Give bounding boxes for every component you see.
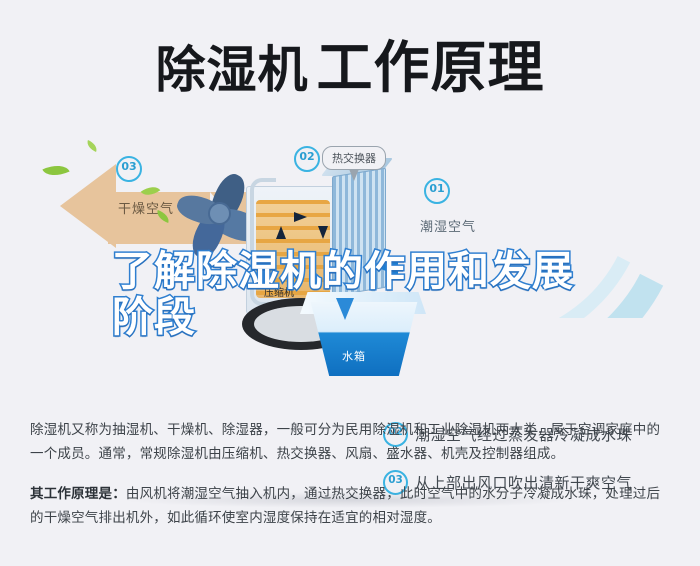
diagram-badge-01: 01 — [424, 178, 450, 204]
flow-arrow-right-icon — [294, 212, 307, 222]
watermark-line-1: 了解除湿机的作用和发展 — [112, 248, 612, 294]
flow-arrow-up-icon — [276, 226, 286, 239]
infographic-page: 除湿机工作原理 干燥空气 — [0, 0, 700, 566]
moist-air-label: 潮湿空气 — [420, 216, 476, 235]
paragraph-2-lead: 其工作原理是： — [30, 486, 126, 502]
body-copy: 除湿机又称为抽湿机、干燥机、除湿器，一般可分为民用除湿机和工业除湿机两大类，属于… — [30, 418, 672, 546]
paragraph-2: 其工作原理是：由风机将潮湿空气抽入机内，通过热交换器，此时空气中的水分子冷凝成水… — [30, 482, 672, 530]
diagram-badge-02: 02 — [294, 146, 320, 172]
leaf-icon — [85, 140, 99, 152]
paragraph-1: 除湿机又称为抽湿机、干燥机、除湿器，一般可分为民用除湿机和工业除湿机两大类，属于… — [30, 418, 672, 466]
page-title-part2: 工作原理 — [317, 36, 545, 101]
water-tank-label: 水箱 — [342, 348, 366, 364]
flow-arrow-down-icon — [318, 226, 328, 239]
watermark-line-2: 阶段 — [112, 294, 612, 340]
page-title-part1: 除湿机 — [156, 41, 309, 99]
watermark-overlay: 了解除湿机的作用和发展 阶段 — [112, 248, 612, 340]
heat-exchanger-callout: 热交换器 — [322, 146, 386, 170]
page-title: 除湿机工作原理 — [0, 26, 700, 113]
title-area: 除湿机工作原理 — [0, 26, 700, 112]
diagram-badge-03: 03 — [116, 156, 142, 182]
